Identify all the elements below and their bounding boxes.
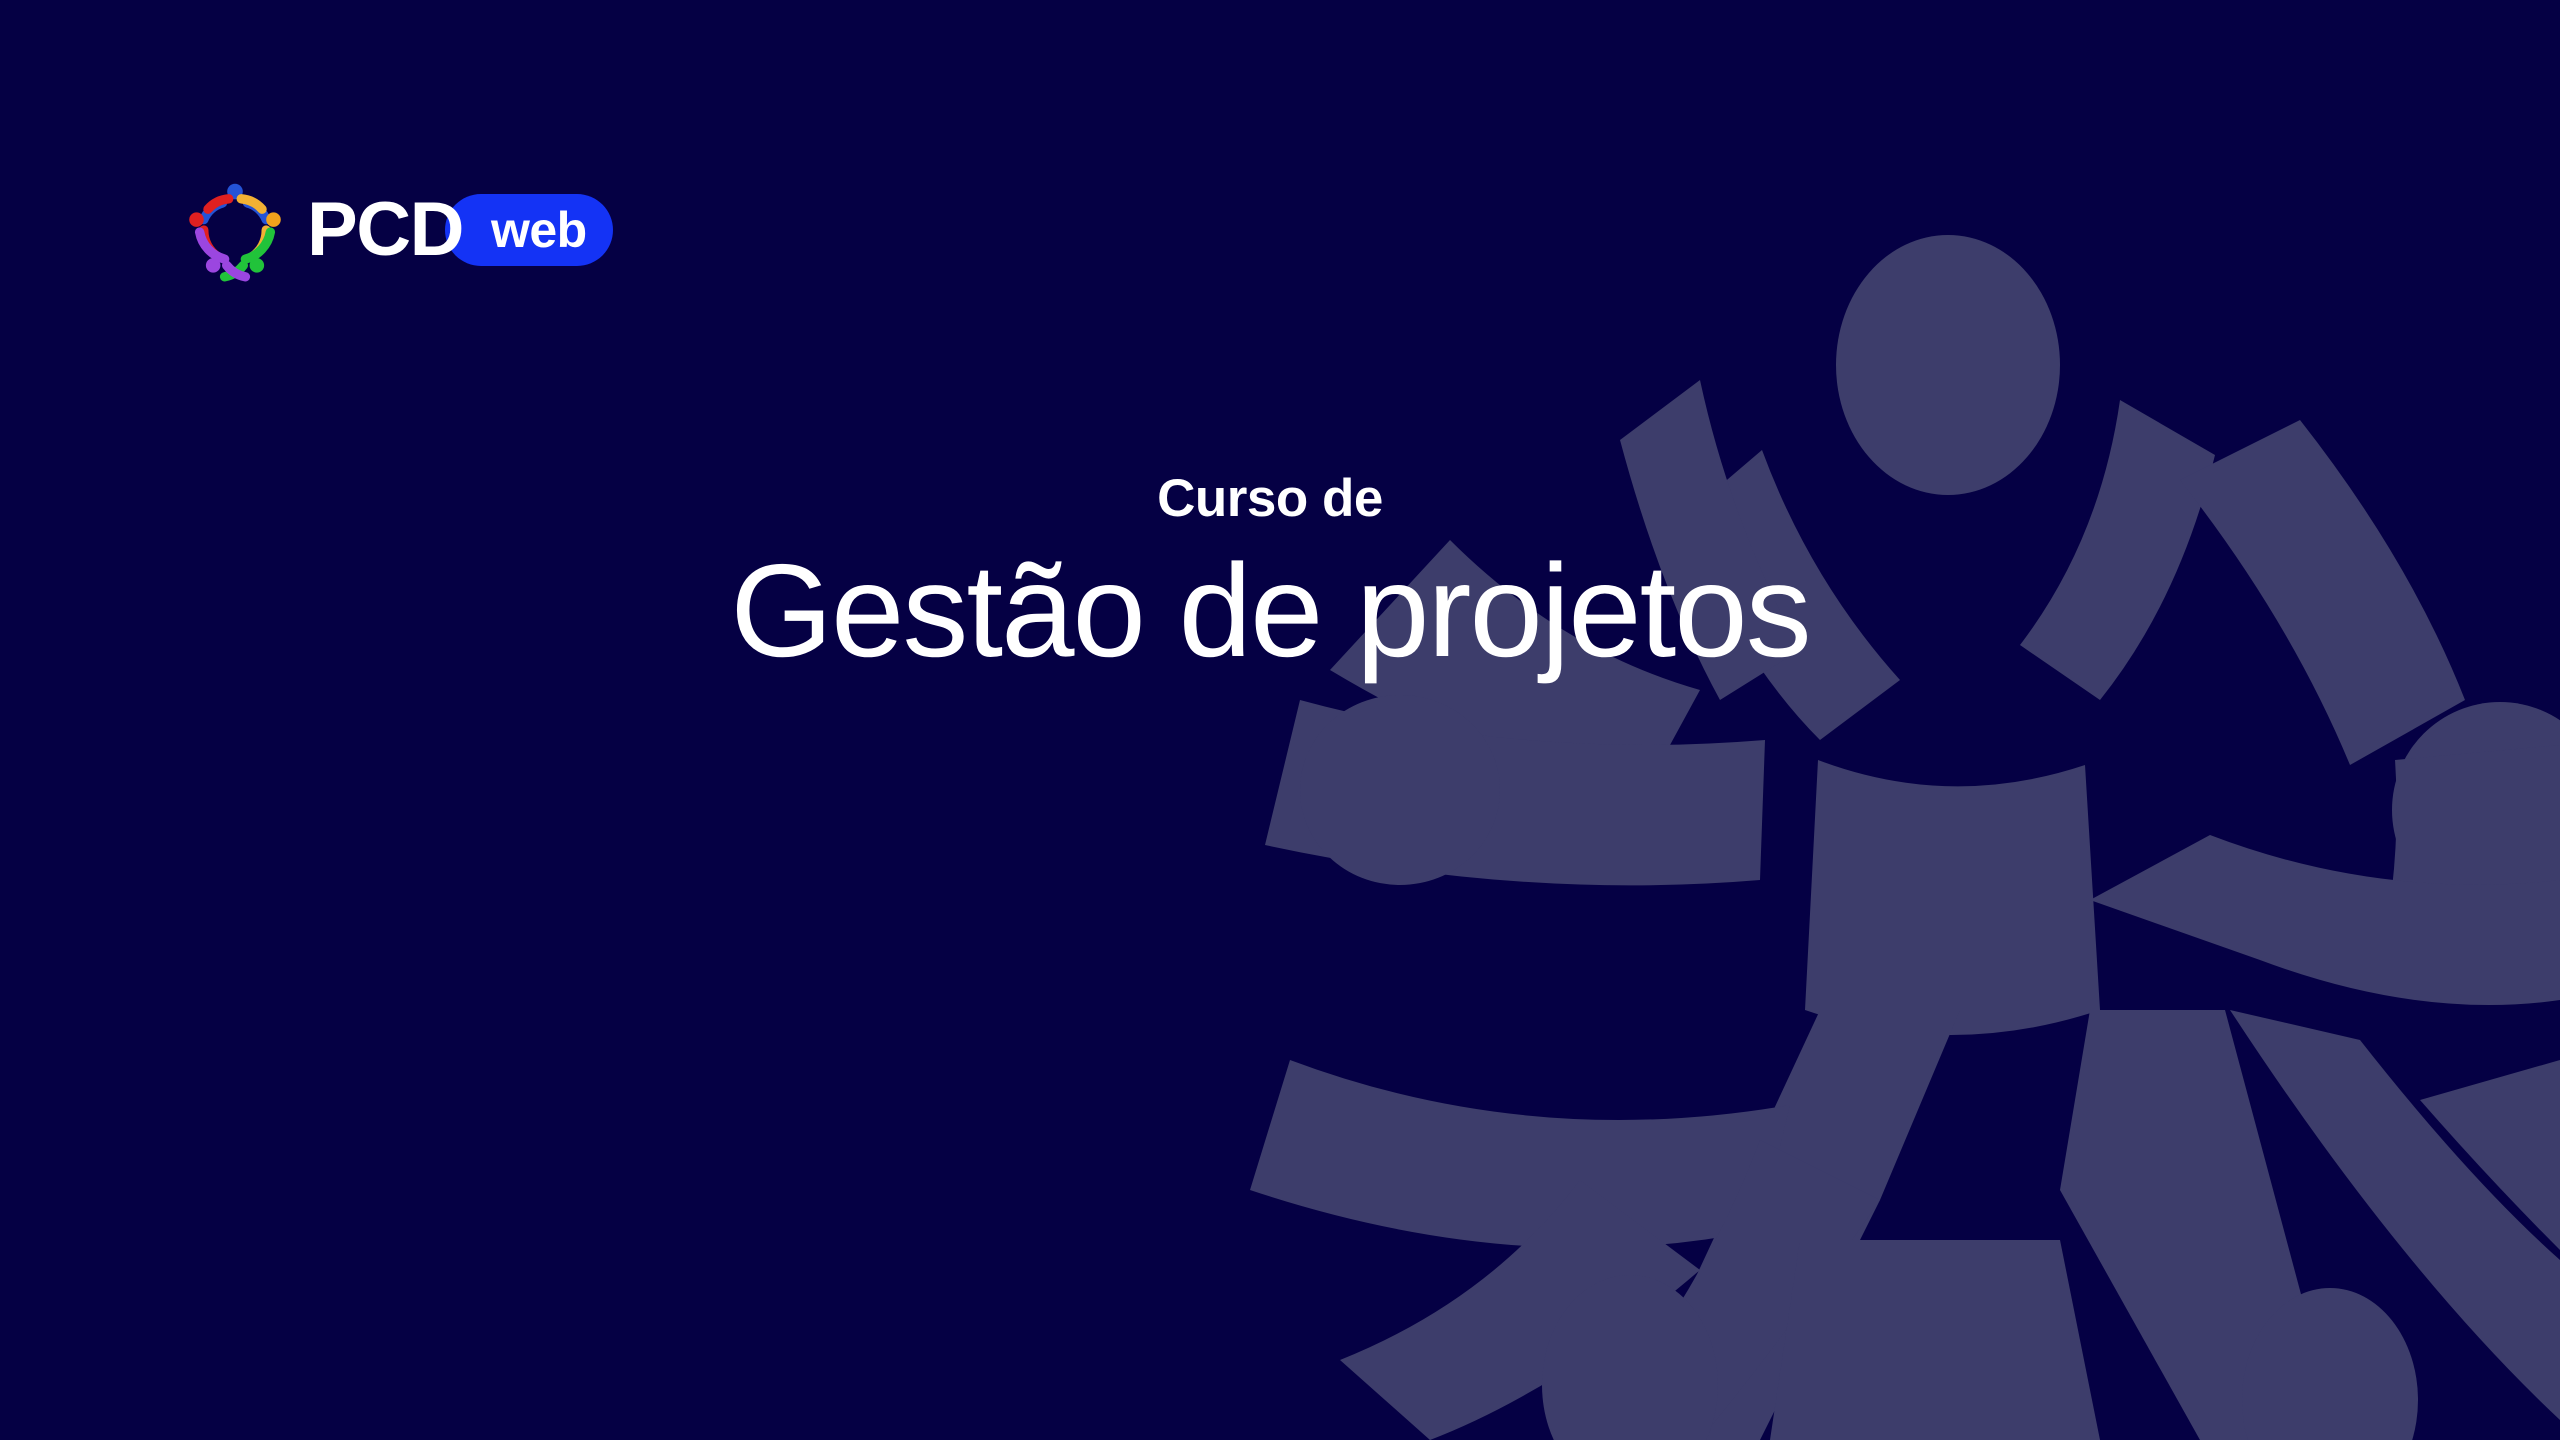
motif-torso	[1770, 1240, 2100, 1440]
motif-head-bottom-left	[1542, 1275, 1718, 1440]
motif-torso	[1805, 760, 2100, 1035]
brand-wordmark: PCD web	[307, 191, 613, 269]
motif-leg	[1580, 1140, 1880, 1440]
motif-head-left	[1300, 695, 1500, 885]
motif-head-top	[1836, 235, 2060, 495]
motif-arm	[2020, 400, 2215, 700]
motif-arm	[1340, 1180, 1700, 1440]
motif-head-bottom-right	[2242, 1288, 2418, 1440]
motif-arm	[2420, 1060, 2560, 1250]
motif-leg	[1620, 1010, 1960, 1440]
people-circle-icon	[183, 178, 287, 282]
motif-leg	[2060, 1010, 2340, 1440]
brand-logo[interactable]: PCD web	[183, 178, 613, 282]
course-eyebrow-label: Curso de	[560, 470, 1980, 528]
brand-name-web: web	[491, 205, 587, 255]
title-slide: PCD web Curso de Gestão de projetos	[0, 0, 2560, 1440]
motif-arm	[1250, 1060, 1790, 1248]
motif-arm	[2390, 745, 2560, 905]
motif-arm	[2230, 1010, 2560, 1420]
motif-head-right	[2392, 702, 2560, 918]
title-block: Curso de Gestão de projetos	[560, 470, 1980, 681]
motif-arm	[2090, 835, 2560, 1005]
page-title: Gestão de projetos	[560, 542, 1980, 681]
motif-arm	[2180, 420, 2465, 765]
motif-arm	[1265, 700, 1765, 885]
brand-name-pcd: PCD	[307, 192, 471, 268]
